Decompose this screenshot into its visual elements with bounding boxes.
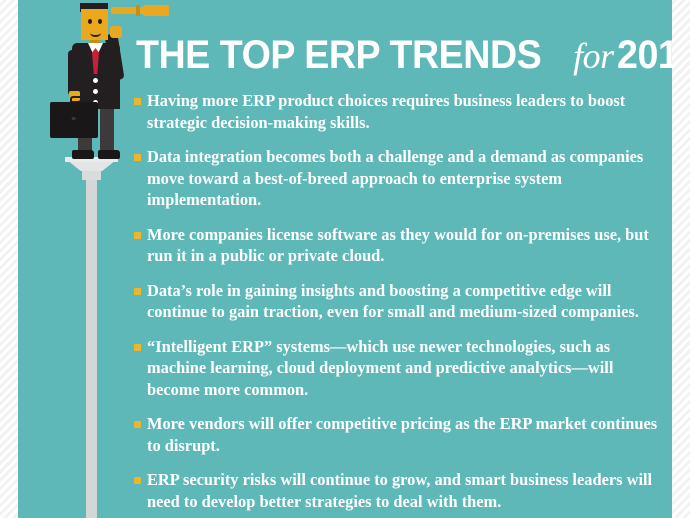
right-eye [98,19,102,24]
list-item: ERP security risks will continue to grow… [134,469,668,512]
list-item-text: Data’s role in gaining insights and boos… [147,280,668,323]
square-bullet-icon [134,477,141,484]
briefcase-icon [50,102,98,138]
trends-list: Having more ERP product choices requires… [134,90,668,518]
list-item-text: Having more ERP product choices requires… [147,90,668,133]
infographic-page: THE TOP ERP TRENDSfor2017 Having more ER… [0,0,690,518]
lowered-arm [68,50,81,96]
square-bullet-icon [134,98,141,105]
page-title: THE TOP ERP TRENDSfor2017 [136,33,666,78]
square-bullet-icon [134,344,141,351]
smile [90,29,101,37]
jacket-button [93,89,98,94]
list-item-text: More companies license software as they … [147,224,668,267]
jacket-button [93,78,98,83]
teal-content-panel: THE TOP ERP TRENDSfor2017 Having more ER… [18,0,672,518]
list-item-text: ERP security risks will continue to grow… [147,469,668,512]
title-connector: for [567,36,617,76]
telescope-band [136,5,140,16]
list-item-text: Data integration becomes both a challeng… [147,146,668,211]
list-item: Data integration becomes both a challeng… [134,146,668,211]
list-item-text: More vendors will offer competitive pric… [147,413,668,456]
list-item-text: “Intelligent ERP” systems—which use newe… [147,336,668,401]
telescope-barrel [143,5,169,16]
list-item: More vendors will offer competitive pric… [134,413,668,456]
square-bullet-icon [134,288,141,295]
square-bullet-icon [134,154,141,161]
right-leg [100,105,114,153]
square-bullet-icon [134,421,141,428]
left-eye [88,19,92,24]
title-main: THE TOP ERP TRENDS [136,33,541,77]
briefcase-clasp [72,117,75,120]
title-year: 2017 [617,33,672,77]
list-item: “Intelligent ERP” systems—which use newe… [134,336,668,401]
left-shoe [72,150,94,159]
list-item: Having more ERP product choices requires… [134,90,668,133]
right-shoe [98,150,120,159]
list-item: More companies license software as they … [134,224,668,267]
pedestal-shaft [86,176,97,518]
list-item: Data’s role in gaining insights and boos… [134,280,668,323]
raised-hand [110,26,122,38]
square-bullet-icon [134,232,141,239]
